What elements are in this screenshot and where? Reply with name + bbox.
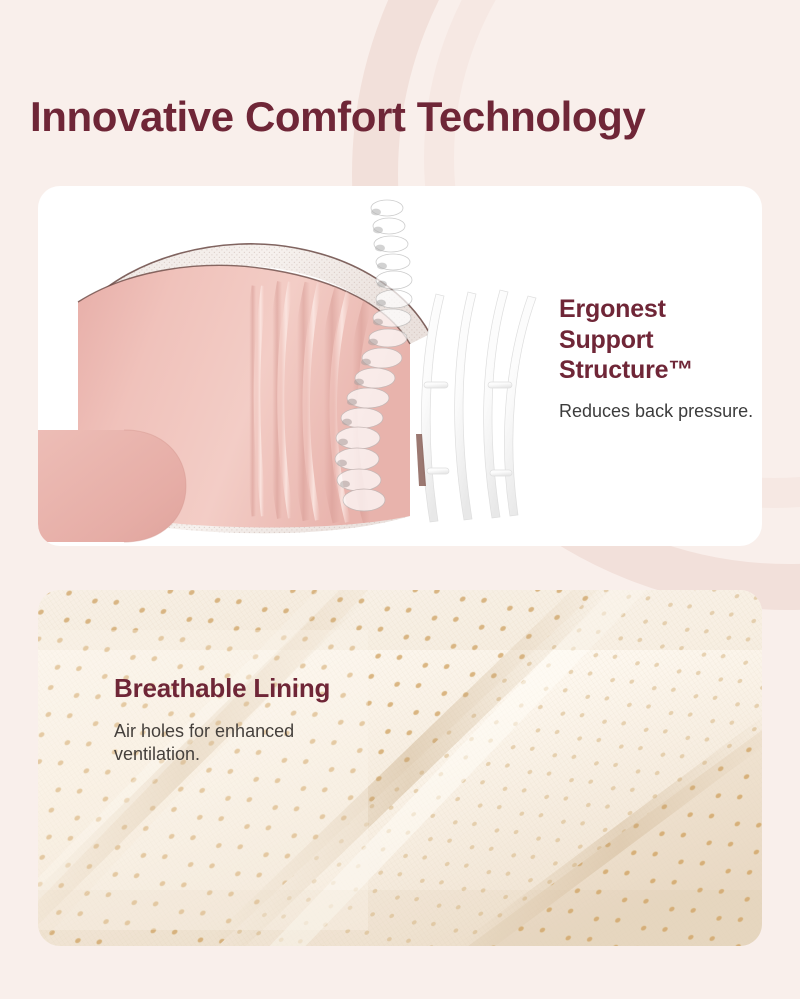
lining-body-text: Air holes for enhanced ventilation. bbox=[114, 720, 344, 767]
support-body-text: Reduces back pressure. bbox=[559, 400, 759, 423]
feature-card-support: Ergonest Support Structure™ Reduces back… bbox=[38, 186, 762, 546]
support-stays bbox=[421, 290, 536, 522]
breathable-fabric-photo bbox=[38, 590, 762, 946]
page-title: Innovative Comfort Technology bbox=[30, 96, 645, 138]
lining-heading: Breathable Lining bbox=[114, 672, 344, 706]
support-belt-illustration bbox=[38, 186, 538, 546]
support-copy-block: Ergonest Support Structure™ Reduces back… bbox=[559, 294, 759, 423]
support-heading: Ergonest Support Structure™ bbox=[559, 294, 759, 386]
velcro-closure-flap bbox=[38, 430, 186, 542]
feature-card-lining: Breathable Lining Air holes for enhanced… bbox=[38, 590, 762, 946]
lining-copy-block: Breathable Lining Air holes for enhanced… bbox=[114, 672, 344, 767]
